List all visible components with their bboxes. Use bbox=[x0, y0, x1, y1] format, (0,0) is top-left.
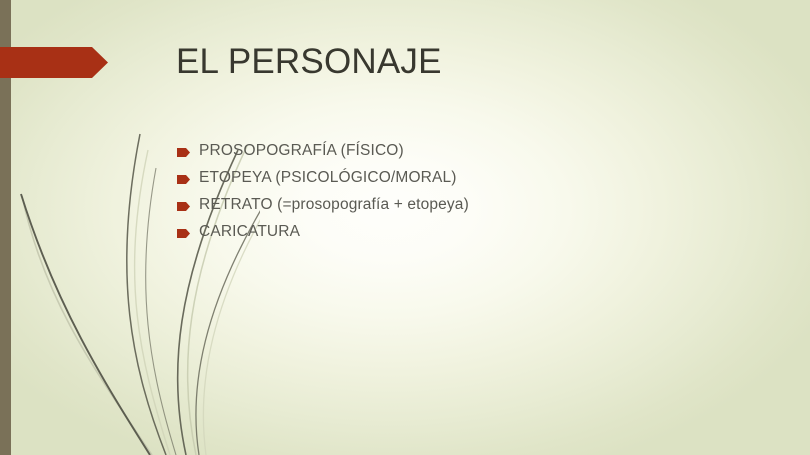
arrow-bullet-icon bbox=[177, 148, 190, 157]
arrow-bullet-icon bbox=[177, 229, 190, 238]
list-item: CARICATURA bbox=[177, 221, 757, 248]
arrow-bullet-icon bbox=[177, 175, 190, 184]
list-item: PROSOPOGRAFÍA (FÍSICO) bbox=[177, 140, 757, 167]
bullet-list: PROSOPOGRAFÍA (FÍSICO) ETOPEYA (PSICOLÓG… bbox=[177, 140, 757, 248]
list-item-label: CARICATURA bbox=[199, 221, 757, 243]
arrow-bullet-icon bbox=[177, 202, 190, 211]
page-title: EL PERSONAJE bbox=[176, 38, 776, 86]
list-item: ETOPEYA (PSICOLÓGICO/MORAL) bbox=[177, 167, 757, 194]
list-item: RETRATO (=prosopografía + etopeya) bbox=[177, 194, 757, 221]
list-item-label: PROSOPOGRAFÍA (FÍSICO) bbox=[199, 140, 757, 162]
title-arrow-banner bbox=[0, 47, 108, 78]
list-item-label: RETRATO (=prosopografía + etopeya) bbox=[199, 194, 757, 216]
slide: EL PERSONAJE PROSOPOGRAFÍA (FÍSICO) ETOP… bbox=[0, 0, 810, 455]
list-item-label: ETOPEYA (PSICOLÓGICO/MORAL) bbox=[199, 167, 757, 189]
